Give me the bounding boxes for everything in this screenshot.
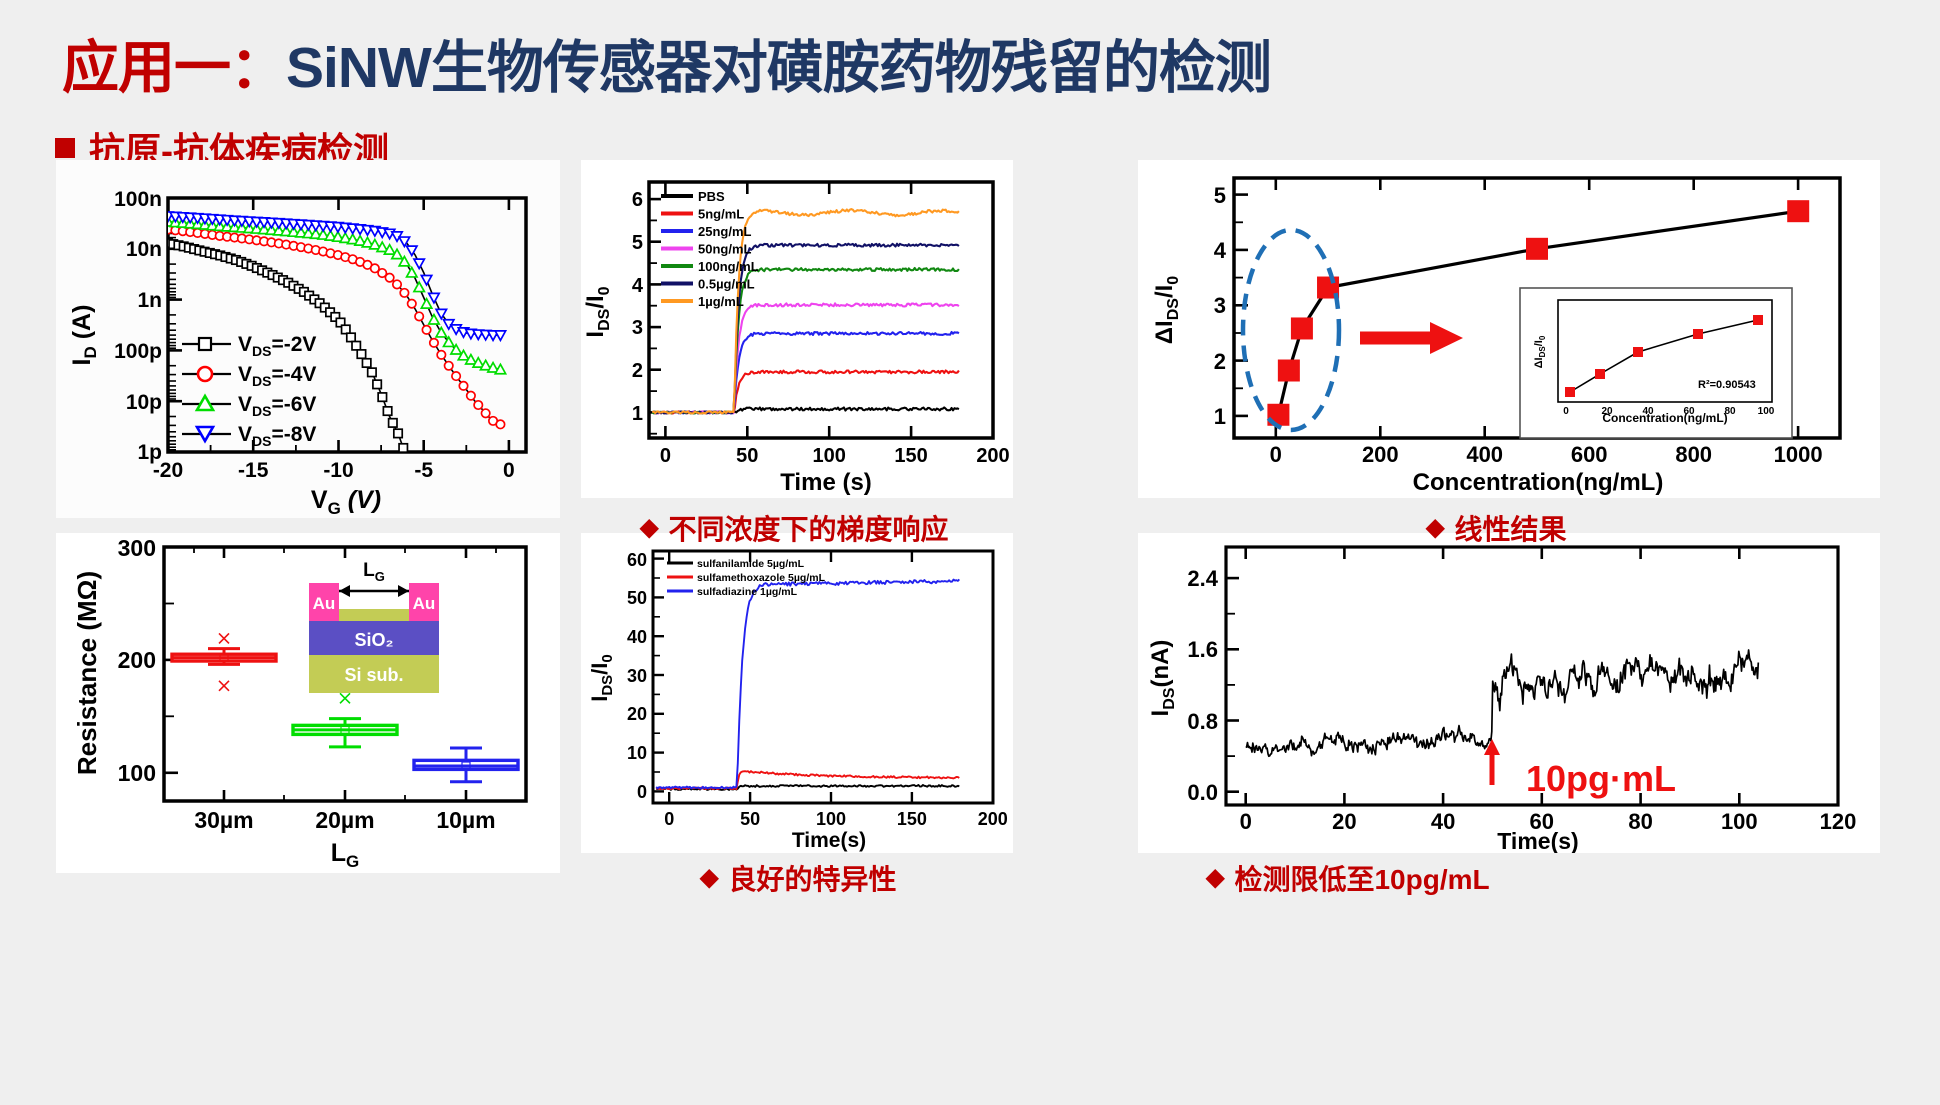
legend-label: sulfamethoxazole 5µg/mL — [697, 572, 826, 584]
x-ticklabel: 0 — [503, 459, 515, 482]
legend-label: 50ng/mL — [698, 242, 752, 257]
y-ticklabel: 10 — [627, 743, 647, 763]
caption-label: 检测限低至10pg/mL — [1234, 858, 1489, 898]
y-ticklabel: 1 — [1214, 404, 1226, 429]
y-ticklabel: 30 — [627, 666, 647, 686]
y-ticklabel: 10p — [126, 391, 162, 414]
legend-label: 5ng/mL — [698, 207, 744, 222]
y-ticklabel: 20 — [627, 704, 647, 724]
caption-label: 良好的特异性 — [728, 858, 896, 898]
x-ticklabel: 30µm — [194, 807, 253, 833]
x-ticklabel: 0 — [1240, 809, 1252, 834]
calibration-curve-svg: 1 2 3 4 5 0 — [1138, 160, 1880, 498]
y-ticklabel: 2 — [632, 360, 643, 382]
x-ticklabel: 50 — [740, 809, 760, 829]
x-ticklabel: 40 — [1431, 809, 1455, 834]
x-axis-title: Time(s) — [792, 829, 866, 852]
chart-panel-lod-trace: 0.0 0.8 1.6 2.4 — [1138, 533, 1880, 853]
caption-lod: ◆ 检测限低至10pg/mL — [1206, 858, 1490, 898]
inset-x-ticklabel: 20 — [1601, 406, 1613, 417]
y-ticklabel: 10n — [126, 238, 162, 261]
lod-annotation: 10pg·mL — [1526, 758, 1676, 799]
y-ticklabel: 3 — [632, 317, 643, 339]
chart-panel-resistance-boxplot: 100 200 300 30µm — [56, 533, 560, 873]
x-ticklabel: 120 — [1820, 809, 1857, 834]
y-ticklabel: 100p — [114, 340, 162, 363]
y-ticklabel: 0 — [637, 782, 647, 802]
y-ticklabel: 100n — [114, 188, 162, 211]
inset-r2-label: R²=0.90543 — [1698, 379, 1756, 391]
x-ticklabel: -10 — [323, 459, 353, 482]
x-ticklabel: 400 — [1466, 442, 1503, 467]
inset-x-axis-title: Concentration(ng/mL) — [1602, 411, 1727, 425]
diamond-icon: ◆ — [700, 866, 718, 890]
inset-x-ticklabel: 80 — [1724, 406, 1736, 417]
x-axis-title: Time(s) — [1497, 828, 1578, 853]
x-ticklabel: -15 — [238, 459, 269, 482]
chart-panel-concentration-response: 1 2 3 4 5 6 0 50 — [581, 160, 1013, 498]
x-ticklabel: 20µm — [315, 807, 374, 833]
x-ticklabel: 600 — [1571, 442, 1608, 467]
x-ticklabel: 100 — [813, 445, 846, 467]
y-ticklabel: 2.4 — [1187, 566, 1218, 591]
inset-x-ticklabel: 60 — [1683, 406, 1695, 417]
x-ticklabel: 0 — [660, 445, 671, 467]
au-label-left: Au — [313, 594, 336, 613]
x-axis-title: Time (s) — [780, 469, 872, 496]
inset-x-ticklabel: 100 — [1758, 406, 1775, 417]
calibration-inset: R²=0.90543 Concentration(ng/mL) ΔIDS/I0 … — [1520, 288, 1792, 438]
y-ticklabel: 6 — [632, 189, 643, 211]
x-axis-title: Concentration(ng/mL) — [1413, 469, 1664, 496]
si-sub-label: Si sub. — [344, 665, 403, 685]
diamond-icon: ◆ — [640, 516, 658, 540]
y-ticklabel: 200 — [118, 647, 156, 673]
x-ticklabel: 200 — [976, 445, 1009, 467]
inset-x-ticklabel: 0 — [1563, 406, 1569, 417]
chart-panel-transfer-curves: 100n 10n 1n 100p 10p 1p -20 -15 -10 -5 0… — [56, 160, 560, 518]
caption-specificity: ◆ 良好的特异性 — [700, 858, 896, 898]
concentration-response-svg: 1 2 3 4 5 6 0 50 — [581, 160, 1013, 498]
x-axis-title: VG (V) — [311, 486, 381, 518]
x-ticklabel: -5 — [414, 459, 433, 482]
legend-label: 25ng/mL — [698, 224, 752, 239]
x-ticklabel: 1000 — [1774, 442, 1823, 467]
caption-label: 不同浓度下的梯度响应 — [668, 508, 948, 548]
x-ticklabel: 0 — [1270, 442, 1282, 467]
caption-linearity: ◆ 线性结果 — [1426, 508, 1566, 548]
legend-label: VDS=-6V — [238, 393, 316, 419]
x-ticklabel: 50 — [736, 445, 758, 467]
legend-label: sulfanilamide 5µg/mL — [697, 558, 805, 570]
slide-title-red: 应用一： — [62, 36, 286, 100]
resistance-boxplot-svg: 100 200 300 30µm — [56, 533, 560, 873]
y-ticklabel: 0.0 — [1187, 780, 1218, 805]
diamond-icon: ◆ — [1206, 866, 1224, 890]
x-ticklabel: 10µm — [436, 807, 495, 833]
y-ticklabel: 1.6 — [1187, 637, 1218, 662]
slide-root: 应用一：SiNW生物传感器对磺胺药物残留的检测 抗原-抗体疾病检测 — [0, 0, 1940, 1105]
x-ticklabel: 200 — [1362, 442, 1399, 467]
y-ticklabel: 60 — [627, 550, 647, 570]
legend-label: 100ng/mL — [698, 259, 759, 274]
au-label-right: Au — [413, 594, 436, 613]
y-ticklabel: 1 — [632, 403, 643, 425]
y-ticklabel: 1n — [137, 289, 162, 312]
y-ticklabel: 3 — [1214, 293, 1226, 318]
transfer-curves-svg: 100n 10n 1n 100p 10p 1p -20 -15 -10 -5 0… — [56, 160, 560, 518]
diamond-icon: ◆ — [1426, 516, 1444, 540]
specificity-svg: 0 10 20 30 40 50 60 — [581, 533, 1013, 853]
legend-label: VDS=-2V — [238, 333, 316, 359]
y-ticklabel: 0.8 — [1187, 709, 1218, 734]
legend-label: VDS=-4V — [238, 363, 316, 389]
x-ticklabel: 0 — [664, 809, 674, 829]
legend-label: 0.5µg/mL — [698, 277, 755, 292]
slide-title-blue: SiNW生物传感器对磺胺药物残留的检测 — [286, 36, 1271, 100]
x-ticklabel: 200 — [978, 809, 1008, 829]
chart-panel-specificity: 0 10 20 30 40 50 60 — [581, 533, 1013, 853]
legend-label: VDS=-8V — [238, 423, 316, 449]
y-ticklabel: 40 — [627, 627, 647, 647]
y-ticklabel: 2 — [1214, 349, 1226, 374]
legend-label: sulfadiazine 1µg/mL — [697, 586, 798, 598]
y-ticklabel: 5 — [632, 232, 643, 254]
y-axis-title: Resistance (MΩ) — [72, 571, 102, 775]
x-ticklabel: 150 — [894, 445, 927, 467]
x-ticklabel: 100 — [1721, 809, 1758, 834]
y-ticklabel: 5 — [1214, 183, 1226, 208]
bullet-square-icon — [55, 138, 75, 158]
inset-x-ticklabel: 40 — [1642, 406, 1654, 417]
x-ticklabel: 20 — [1332, 809, 1356, 834]
x-ticklabel: 150 — [897, 809, 927, 829]
caption-label: 线性结果 — [1454, 508, 1566, 548]
x-ticklabel: 80 — [1628, 809, 1652, 834]
caption-concentration-response: ◆ 不同浓度下的梯度响应 — [640, 508, 948, 548]
y-ticklabel: 4 — [1214, 238, 1227, 263]
nanowire-layer — [339, 609, 409, 621]
x-ticklabel: 100 — [816, 809, 846, 829]
slide-title: 应用一：SiNW生物传感器对磺胺药物残留的检测 — [62, 22, 1271, 104]
legend-label: 1µg/mL — [698, 294, 744, 309]
y-ticklabel: 50 — [627, 588, 647, 608]
x-ticklabel: 800 — [1675, 442, 1712, 467]
x-ticklabel: -20 — [153, 459, 183, 482]
y-ticklabel: 4 — [632, 275, 644, 297]
chart-panel-calibration-curve: 1 2 3 4 5 0 — [1138, 160, 1880, 498]
sio2-label: SiO₂ — [354, 630, 393, 650]
y-ticklabel: 100 — [118, 760, 156, 786]
y-ticklabel: 300 — [118, 535, 156, 561]
legend-label: PBS — [698, 189, 725, 204]
lod-trace-svg: 0.0 0.8 1.6 2.4 — [1138, 533, 1880, 853]
